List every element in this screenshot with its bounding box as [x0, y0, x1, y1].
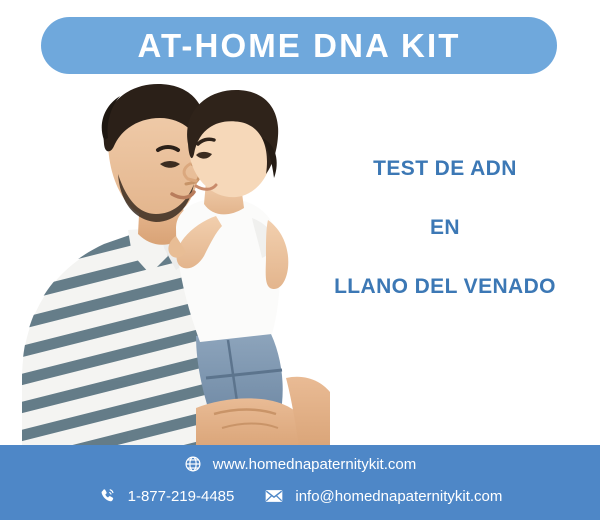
- website-label: www.homednapaternitykit.com: [213, 457, 416, 472]
- phone-contact[interactable]: 1-877-219-4485: [98, 487, 235, 506]
- headline-line-2: EN: [300, 217, 590, 238]
- phone-label: 1-877-219-4485: [128, 489, 235, 504]
- headline-line-1: TEST DE ADN: [300, 158, 590, 179]
- phone-icon: [98, 487, 117, 506]
- family-photo: [0, 78, 330, 448]
- contact-footer: www.homednapaternitykit.com 1-877-219-44…: [0, 445, 600, 520]
- email-label: info@homednapaternitykit.com: [295, 489, 502, 504]
- globe-icon: [184, 455, 202, 473]
- dna-kit-promo-banner: AT-HOME DNA KIT: [0, 0, 600, 520]
- headline-line-3: LLANO DEL VENADO: [300, 276, 590, 297]
- page-title: AT-HOME DNA KIT: [138, 29, 461, 62]
- footer-contact-row: 1-877-219-4485 info@homednapaternitykit.…: [0, 486, 600, 506]
- website-contact[interactable]: www.homednapaternitykit.com: [184, 455, 416, 473]
- headline-block: TEST DE ADN EN LLANO DEL VENADO: [300, 158, 590, 297]
- footer-website-row: www.homednapaternitykit.com: [0, 455, 600, 473]
- header-pill: AT-HOME DNA KIT: [41, 17, 557, 74]
- email-contact[interactable]: info@homednapaternitykit.com: [264, 486, 502, 506]
- envelope-icon: [264, 486, 284, 506]
